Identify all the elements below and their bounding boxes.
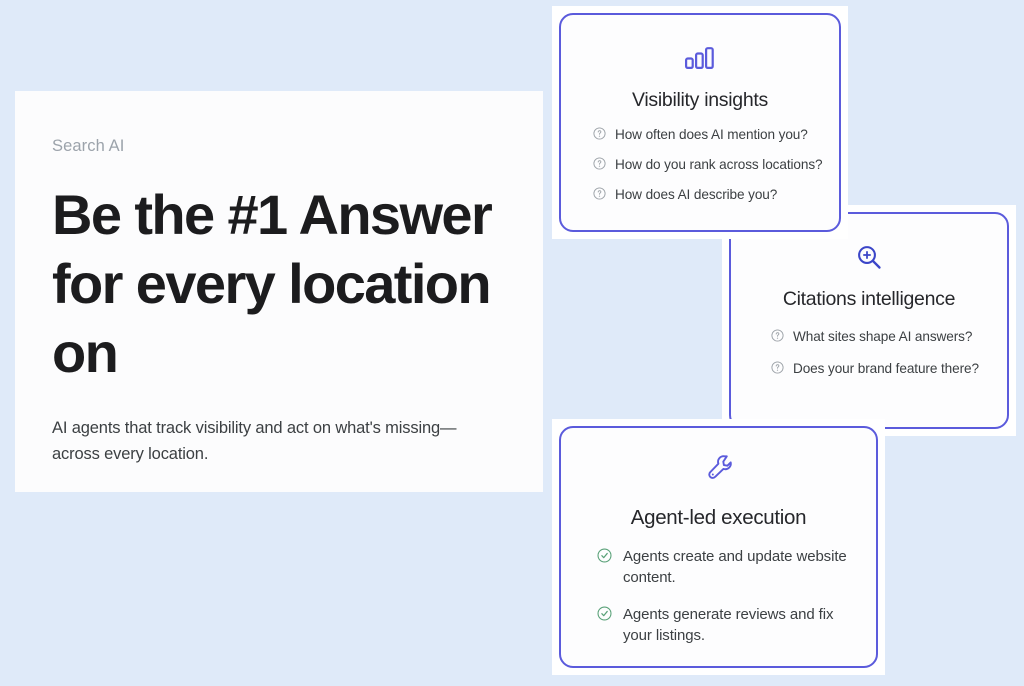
card-agent-led-execution[interactable]: Agent-led execution Agents create and up… — [552, 419, 885, 675]
card-bullet-list: What sites shape AI answers? Does your b… — [731, 328, 1007, 392]
card-bullet-list: Agents create and update website content… — [561, 546, 876, 662]
list-item-label: Agents generate reviews and fix your lis… — [623, 604, 860, 646]
list-item: Does your brand feature there? — [771, 360, 991, 378]
card-title: Visibility insights — [632, 89, 768, 112]
list-item-label: How do you rank across locations? — [615, 156, 823, 173]
question-circle-icon — [593, 187, 606, 204]
list-item-label: How does AI describe you? — [615, 186, 777, 203]
list-item-label: Agents create and update website content… — [623, 546, 860, 588]
card-bullet-list: How often does AI mention you? How do yo… — [561, 126, 839, 216]
list-item: Agents create and update website content… — [597, 546, 860, 588]
question-circle-icon — [771, 329, 784, 346]
page-title: Be the #1 Answer for every location on — [52, 180, 503, 387]
page-stage: Search AI Be the #1 Answer for every loc… — [0, 0, 1024, 686]
bar-chart-icon — [685, 43, 715, 73]
card-title: Agent-led execution — [631, 506, 807, 530]
question-circle-icon — [593, 127, 606, 144]
list-item: How do you rank across locations? — [593, 156, 823, 174]
list-item-label: Does your brand feature there? — [793, 360, 979, 377]
list-item-label: How often does AI mention you? — [615, 126, 808, 143]
list-item: Agents generate reviews and fix your lis… — [597, 604, 860, 646]
list-item: What sites shape AI answers? — [771, 328, 991, 346]
hero-eyebrow: Search AI — [52, 137, 503, 156]
list-item: How does AI describe you? — [593, 186, 823, 204]
hero-card: Search AI Be the #1 Answer for every loc… — [15, 91, 543, 492]
list-item: How often does AI mention you? — [593, 126, 823, 144]
card-frame: Citations intelligence What sites shape … — [729, 212, 1009, 429]
question-circle-icon — [771, 361, 784, 378]
card-frame: Visibility insights How often does AI me… — [559, 13, 841, 232]
zoom-in-magnifier-icon — [856, 242, 883, 272]
card-title: Citations intelligence — [783, 288, 955, 311]
card-frame: Agent-led execution Agents create and up… — [559, 426, 878, 668]
check-circle-icon — [597, 606, 612, 627]
check-circle-icon — [597, 548, 612, 569]
card-citations-intelligence[interactable]: Citations intelligence What sites shape … — [722, 205, 1016, 436]
card-visibility-insights[interactable]: Visibility insights How often does AI me… — [552, 6, 848, 239]
hero-subtitle: AI agents that track visibility and act … — [52, 415, 503, 467]
list-item-label: What sites shape AI answers? — [793, 328, 972, 345]
question-circle-icon — [593, 157, 606, 174]
wrench-icon — [705, 454, 733, 484]
hero-content: Search AI Be the #1 Answer for every loc… — [36, 137, 503, 467]
